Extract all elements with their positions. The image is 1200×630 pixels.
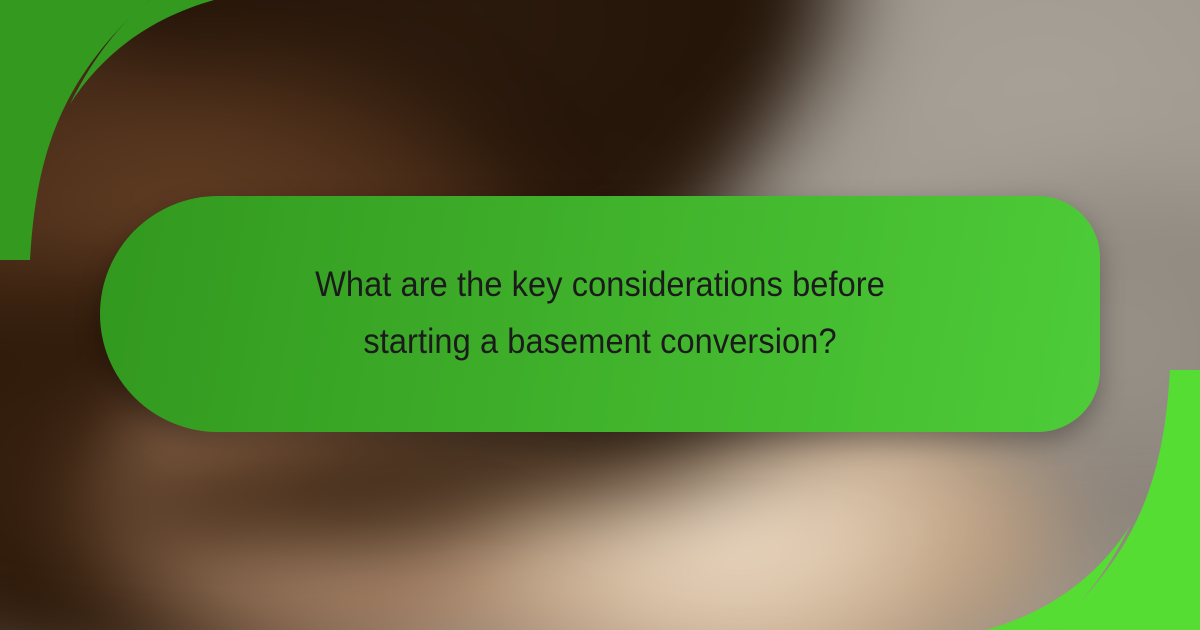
question-text: What are the key considerations before s…	[265, 257, 935, 370]
social-card-canvas: What are the key considerations before s…	[0, 0, 1200, 630]
question-card: What are the key considerations before s…	[100, 196, 1100, 432]
